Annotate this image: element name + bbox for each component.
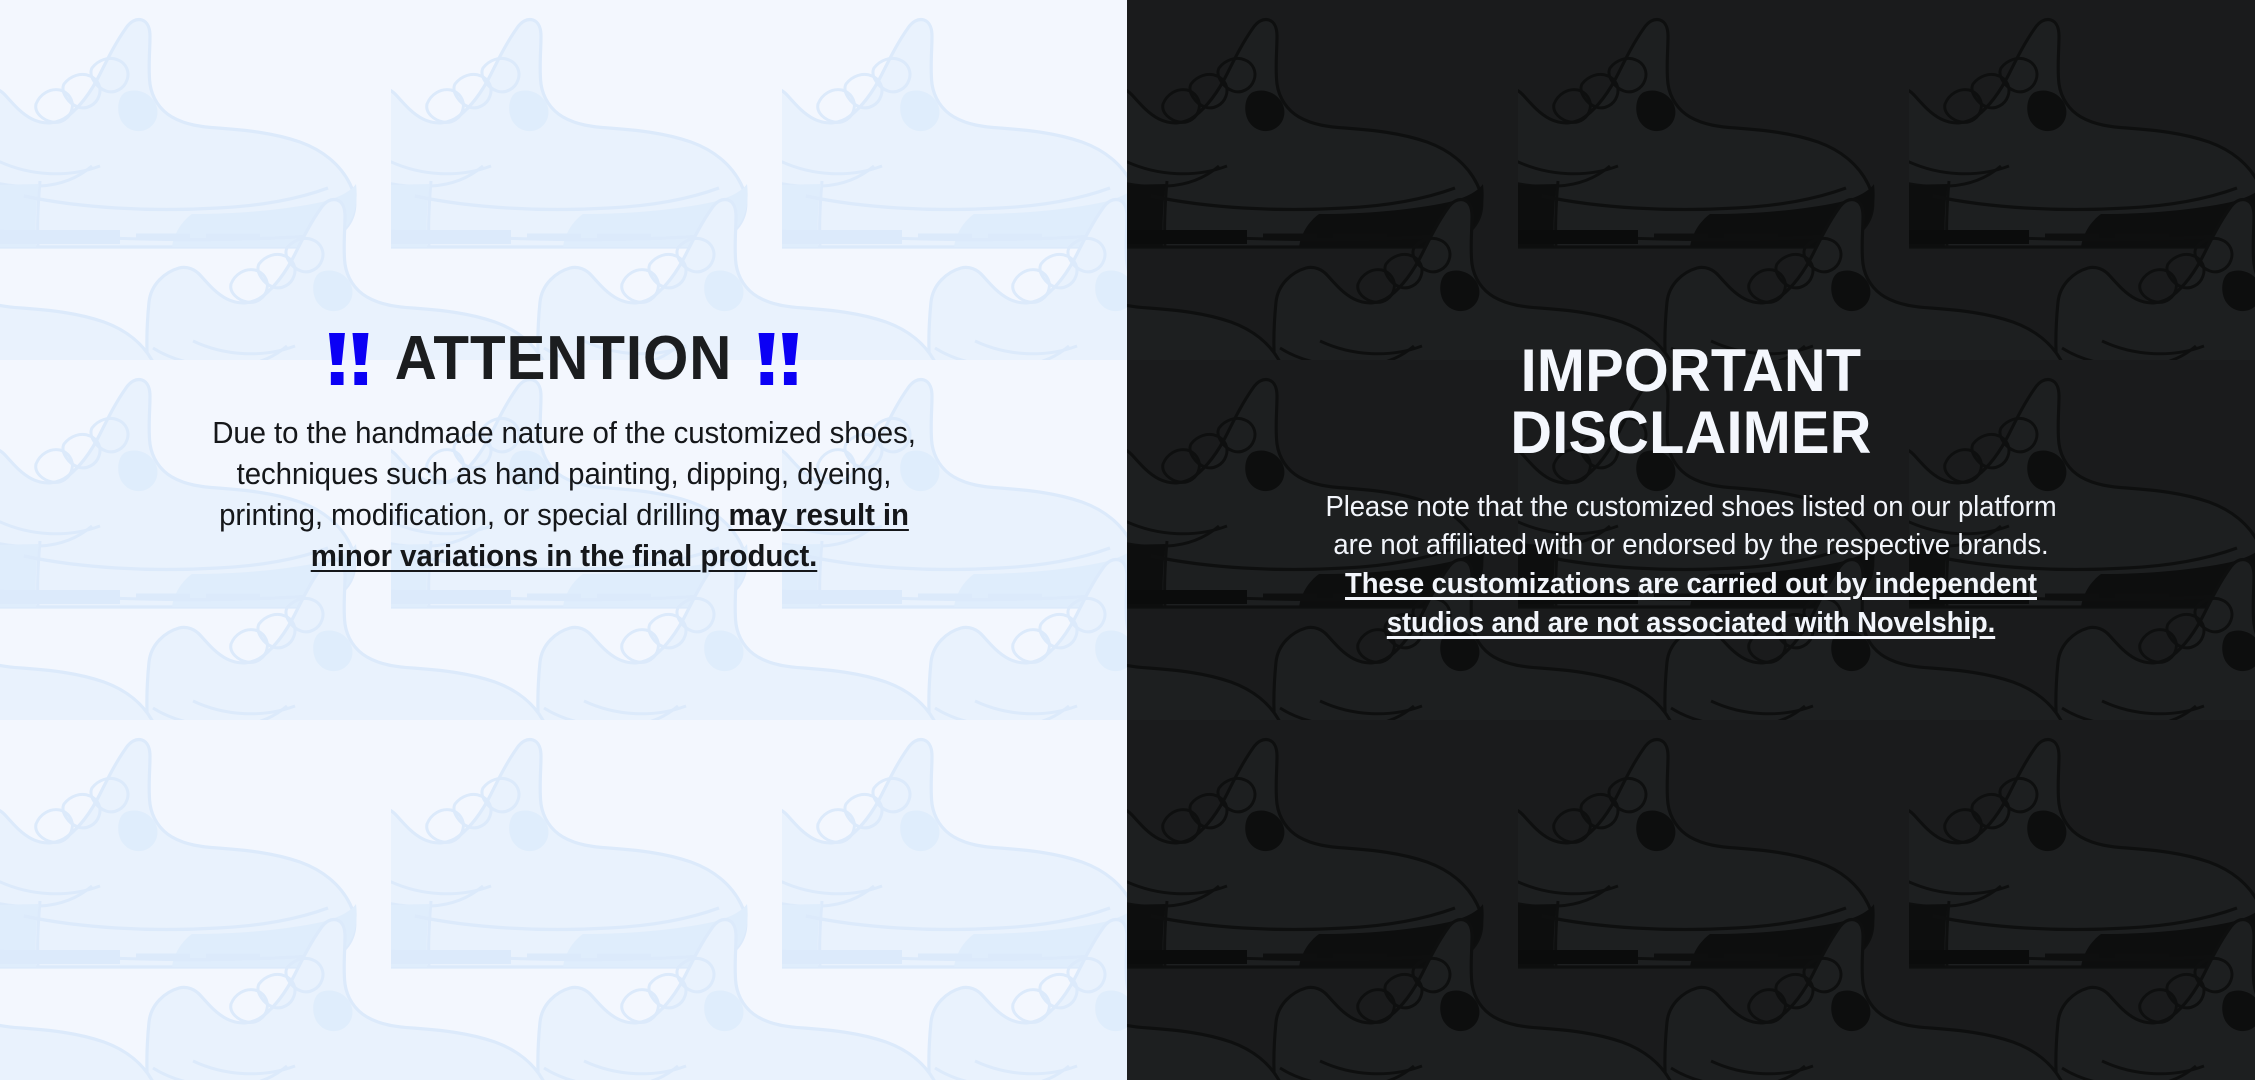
disclaimer-heading-line-2: DISCLAIMER [1150, 402, 2233, 464]
disclaimer-body: Please note that the customized shoes li… [1305, 464, 2077, 643]
promo-banner: ATTENTION Due to the handmade nature of … [0, 0, 2255, 1080]
disclaimer-body-plain: Please note that the customized shoes li… [1325, 491, 2056, 562]
disclaimer-heading: IMPORTANT DISCLAIMER [1150, 340, 2233, 464]
disclaimer-body-emphasis: These customizations are carried out by … [1345, 568, 2037, 639]
disclaimer-content: IMPORTANT DISCLAIMER Please note that th… [1127, 340, 2255, 643]
attention-heading-text: ATTENTION [395, 328, 733, 390]
attention-heading: ATTENTION [34, 328, 1093, 390]
disclaimer-heading-line-1: IMPORTANT [1150, 340, 2233, 402]
double-exclamation-icon-left [327, 331, 370, 387]
attention-body: Due to the handmade nature of the custom… [182, 390, 944, 577]
double-exclamation-icon-right [757, 331, 800, 387]
attention-panel: ATTENTION Due to the handmade nature of … [0, 0, 1127, 1080]
attention-content: ATTENTION Due to the handmade nature of … [0, 328, 1127, 577]
disclaimer-panel: IMPORTANT DISCLAIMER Please note that th… [1127, 0, 2255, 1080]
